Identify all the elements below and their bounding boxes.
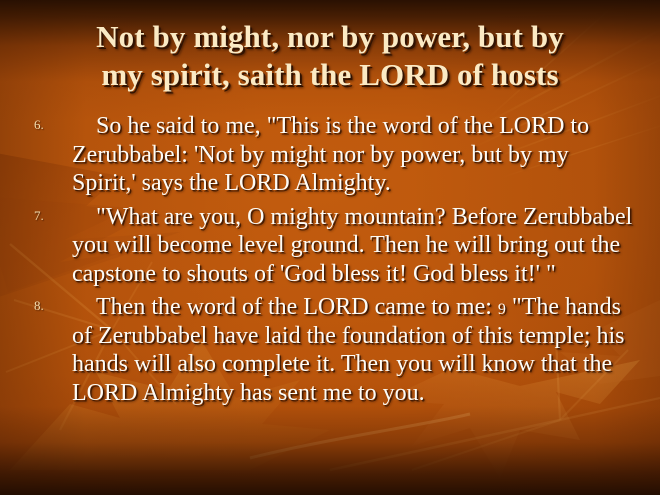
scripture-text: So he said to me, "This is the word of t… [72, 112, 636, 198]
verse-marker: 7. [34, 209, 44, 222]
verse-number-inline: 9 [498, 301, 506, 318]
scripture-text: "What are you, O mighty mountain? Before… [72, 203, 636, 289]
slide-title-line-2: my spirit, saith the LORD of hosts [24, 56, 636, 94]
slide-title-line-1: Not by might, nor by power, but by [24, 18, 636, 56]
scripture-paragraph: 6. So he said to me, "This is the word o… [0, 112, 660, 198]
verse-marker: 8. [34, 299, 44, 312]
slide-body: 6. So he said to me, "This is the word o… [0, 112, 660, 412]
scripture-paragraph: 8. Then the word of the LORD came to me:… [0, 293, 660, 407]
scripture-text: Then the word of the LORD came to me: 9 … [72, 293, 636, 407]
slide-title: Not by might, nor by power, but by my sp… [24, 18, 636, 94]
scripture-text-before: "What are you, O mighty mountain? Before… [72, 204, 632, 287]
presentation-slide: Not by might, nor by power, but by my sp… [0, 0, 660, 495]
verse-marker: 6. [34, 118, 44, 131]
scripture-paragraph: 7. "What are you, O mighty mountain? Bef… [0, 203, 660, 289]
scripture-text-before: Then the word of the LORD came to me: [96, 294, 498, 320]
scripture-text-before: So he said to me, "This is the word of t… [72, 113, 589, 196]
